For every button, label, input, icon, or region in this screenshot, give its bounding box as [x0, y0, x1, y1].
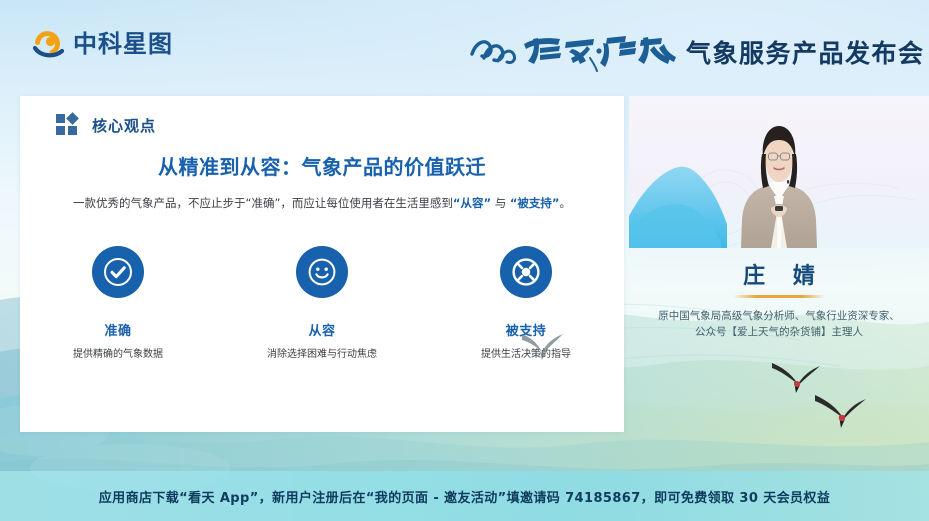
presenter-bio: 原中国气象局高级气象分析师、气象行业资深专家、 公众号【爱上天气的杂货铺】主理人: [639, 308, 919, 341]
promo-banner: 应用商店下载“看天 App”，新用户注册后在“我的页面 - 邀友活动”填邀请码 …: [0, 471, 929, 521]
smiley-face-icon: [296, 246, 348, 298]
page-header: 中科星图: [0, 0, 929, 88]
card-subline: 一款优秀的气象产品，不应止步于“准确”，而应让每位使用者在生活里感到“从容” 与…: [60, 195, 584, 212]
card-section-label: 核心观点: [92, 115, 156, 136]
card-headline: 从精准到从容：气象产品的价值跃迁: [20, 151, 624, 180]
subline-mid: 与: [495, 196, 507, 210]
slide-stage: 中科星图: [0, 0, 929, 521]
presenter-video-feed[interactable]: [629, 96, 929, 248]
pillar-title: 准确: [104, 320, 131, 339]
pillar-ease[interactable]: 从容 消除选择困难与行动焦虑: [262, 246, 382, 360]
brush-calligraphy-title: [468, 24, 680, 72]
lifebuoy-support-icon: [500, 246, 552, 298]
subline-part1: 一款优秀的气象产品，不应止步于“准确”，而应让每位使用者在生活里感到: [73, 196, 453, 210]
pillars-row: 准确 提供精确的气象数据 从容 消除选择困难与行动焦虑: [50, 246, 594, 360]
swallow-bird-icon: [812, 392, 868, 430]
card-section-header: 核心观点: [56, 114, 156, 136]
core-viewpoint-card: 核心观点 从精准到从容：气象产品的价值跃迁 一款优秀的气象产品，不应止步于“准确…: [20, 96, 624, 432]
pillar-accuracy[interactable]: 准确 提供精确的气象数据: [58, 246, 178, 360]
presenter-name: 庄 婧: [629, 258, 929, 290]
four-squares-icon: [56, 114, 80, 136]
presenter-bio-line-1: 原中国气象局高级气象分析师、气象行业资深专家、: [639, 308, 919, 324]
subline-highlight-congrong: “从容”: [453, 196, 491, 210]
brand-logo-text: 中科星图: [73, 32, 173, 56]
check-circle-icon: [92, 246, 144, 298]
xingtu-swirl-logo-icon: [30, 26, 66, 62]
brand-logo[interactable]: 中科星图: [30, 26, 173, 62]
event-title-text: 气象服务产品发布会: [686, 41, 925, 72]
presenter-divider: [733, 295, 825, 298]
pillar-desc: 提供精确的气象数据: [73, 345, 163, 360]
pillar-desc: 消除选择困难与行动焦虑: [267, 345, 377, 360]
promo-banner-text: 应用商店下载“看天 App”，新用户注册后在“我的页面 - 邀友活动”填邀请码 …: [99, 487, 830, 506]
swallow-bird-icon: [770, 360, 822, 396]
subline-part2: 。: [559, 196, 571, 210]
event-title-group: 气象服务产品发布会: [468, 22, 925, 72]
subline-highlight-beizhichi: “被支持”: [510, 196, 560, 210]
swallow-bird-icon: [520, 330, 566, 364]
presenter-bio-line-2: 公众号【爱上天气的杂货铺】主理人: [639, 324, 919, 340]
pillar-title: 从容: [308, 320, 335, 339]
